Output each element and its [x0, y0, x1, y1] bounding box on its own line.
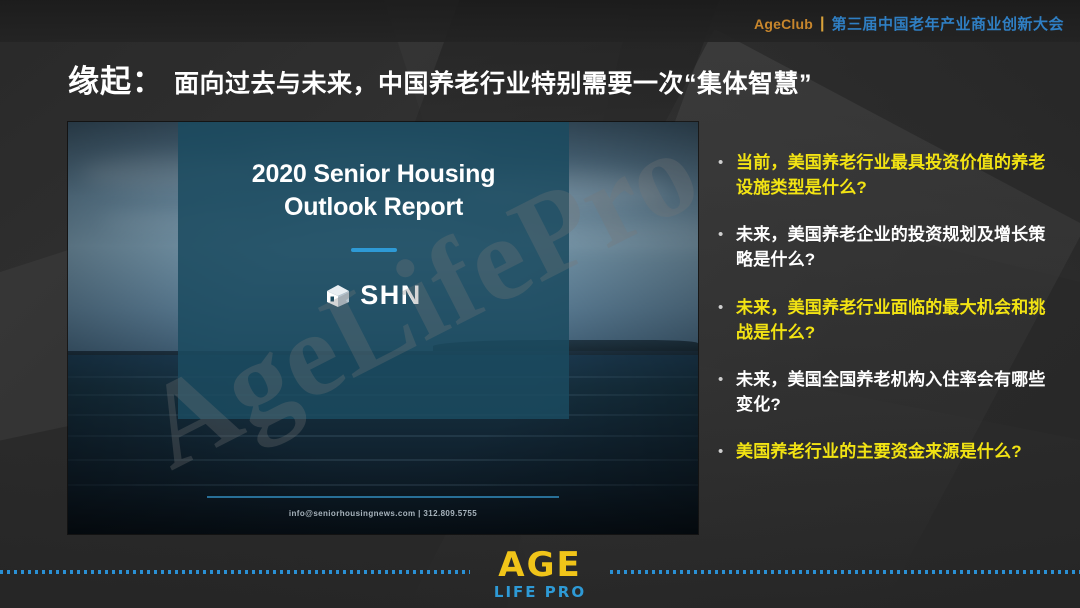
list-item: • 未来，美国养老行业面临的最大机会和挑战是什么? — [718, 295, 1048, 345]
presentation-slide: AgeClub | 第三届中国老年产业商业创新大会 缘起： 面向过去与未来，中国… — [0, 0, 1080, 608]
bullet-point-icon: • — [718, 295, 736, 320]
question-list: • 当前，美国养老行业最具投资价值的养老设施类型是什么? • 未来，美国养老企业… — [718, 150, 1048, 486]
bullet-point-icon: • — [718, 150, 736, 175]
image-footer-rule — [207, 496, 560, 498]
list-item: • 未来，美国养老企业的投资规划及增长策略是什么? — [718, 222, 1048, 272]
footer-logo: AGE LIFE PRO — [494, 548, 586, 600]
header-brand-lockup: AgeClub | 第三届中国老年产业商业创新大会 — [754, 13, 1064, 34]
report-title-divider — [351, 248, 397, 252]
list-item: • 当前，美国养老行业最具投资价值的养老设施类型是什么? — [718, 150, 1048, 200]
shn-logo-text: SHN — [360, 280, 422, 311]
bullet-point-icon: • — [718, 439, 736, 464]
bullet-point-icon: • — [718, 222, 736, 247]
list-item-label: 未来，美国养老企业的投资规划及增长策略是什么? — [736, 222, 1048, 272]
page-title-body: 面向过去与未来，中国养老行业特别需要一次“集体智慧” — [174, 64, 812, 100]
list-item: • 未来，美国全国养老机构入住率会有哪些变化? — [718, 367, 1048, 417]
list-item-label: 美国养老行业的主要资金来源是什么? — [736, 439, 1048, 464]
page-title: 缘起： 面向过去与未来，中国养老行业特别需要一次“集体智慧” — [68, 56, 1040, 101]
house-icon — [325, 283, 351, 309]
bullet-point-icon: • — [718, 367, 736, 392]
report-title-text: 2020 Senior Housing Outlook Report — [214, 158, 534, 224]
report-cover-image: 2020 Senior Housing Outlook Report SHN i… — [68, 122, 698, 534]
footer-logo-sub: LIFE PRO — [494, 585, 586, 600]
footer-dotted-rule-left — [0, 570, 470, 574]
brand-name-ageclub: AgeClub — [754, 16, 813, 32]
list-item-label: 当前，美国养老行业最具投资价值的养老设施类型是什么? — [736, 150, 1048, 200]
conference-title: 第三届中国老年产业商业创新大会 — [831, 13, 1064, 34]
brand-separator: | — [820, 16, 824, 32]
shn-logo-lockup: SHN — [325, 280, 422, 311]
footer-logo-main: AGE — [494, 548, 586, 582]
list-item-label: 未来，美国全国养老机构入住率会有哪些变化? — [736, 367, 1048, 417]
list-item: • 美国养老行业的主要资金来源是什么? — [718, 439, 1048, 464]
report-title-panel: 2020 Senior Housing Outlook Report SHN — [178, 122, 569, 419]
list-item-label: 未来，美国养老行业面临的最大机会和挑战是什么? — [736, 295, 1048, 345]
page-title-lead: 缘起： — [68, 56, 164, 101]
image-contact-info: info@seniorhousingnews.com | 312.809.575… — [68, 509, 698, 518]
footer-dotted-rule-right — [610, 570, 1080, 574]
